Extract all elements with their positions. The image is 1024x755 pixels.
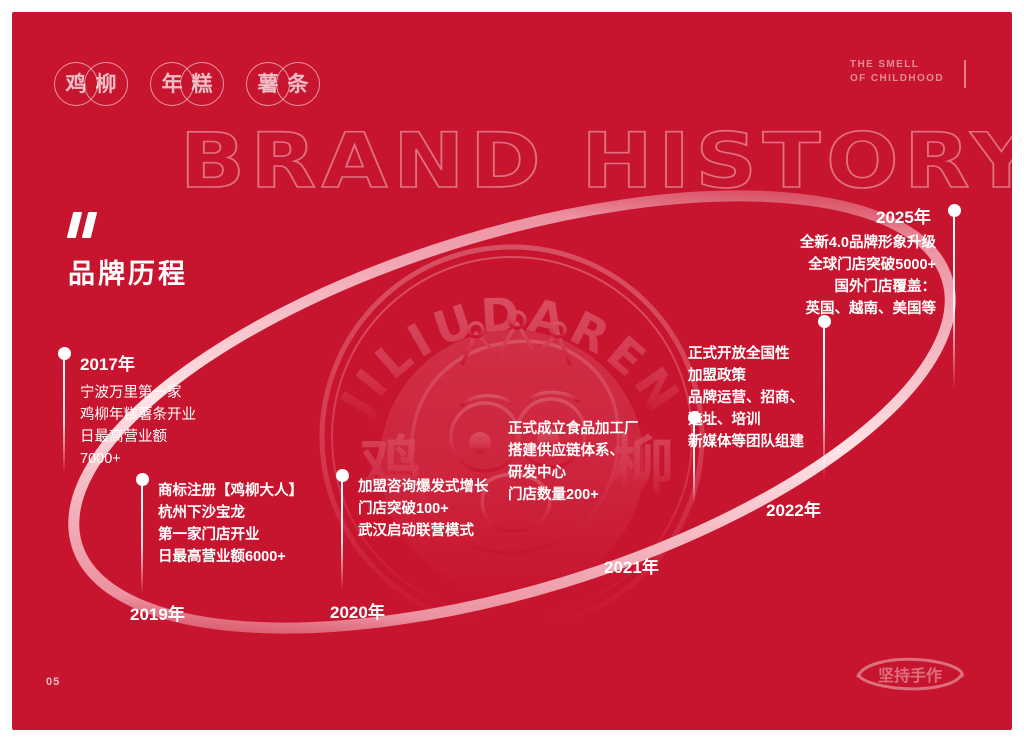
slogan-line-2: OF CHILDHOOD: [850, 72, 944, 86]
milestone-line: 品牌运营、招商、: [688, 387, 804, 409]
milestone-text-2022: 正式开放全国性 加盟政策 品牌运营、招商、 选址、培训 新媒体等团队组建: [688, 343, 804, 453]
milestone-stem-2025: [953, 217, 955, 389]
milestone-yearlabel-2019: 2019年: [130, 600, 185, 625]
milestone-text-2017: 宁波万里第一家 鸡柳年糕薯条开业 日最高营业额 7000+: [80, 382, 196, 470]
milestone-line: 7000+: [80, 448, 196, 470]
milestone-line: 正式成立食品加工厂: [508, 418, 639, 440]
milestone-line: 选址、培训: [688, 409, 804, 431]
logo-char-shutiao-2: 条: [276, 62, 320, 106]
milestone-yearlabel-2020: 2020年: [330, 598, 385, 623]
header-slogan: THE SMELL OF CHILDHOOD: [850, 58, 944, 86]
quote-mark-icon: [70, 212, 110, 238]
milestone-stem-2017: [63, 360, 65, 472]
milestone-line: 国外门店覆盖：: [780, 276, 936, 298]
milestone-text-2025: 全新4.0品牌形象升级 全球门店突破5000+ 国外门店覆盖： 英国、越南、美国…: [780, 232, 936, 320]
milestone-stem-2019: [141, 486, 143, 594]
milestone-stem-2020: [341, 482, 343, 590]
milestone-line: 门店突破100+: [358, 498, 489, 520]
milestone-line: 全新4.0品牌形象升级: [780, 232, 936, 254]
milestone-yearlabel-2021: 2021年: [604, 553, 659, 578]
milestone-line: 武汉启动联营模式: [358, 520, 489, 542]
milestone-line: 加盟咨询爆发式增长: [358, 476, 489, 498]
milestone-line: 加盟政策: [688, 365, 804, 387]
page-title-outline: BRAND HISTORY: [180, 116, 1012, 205]
milestone-year-2017: 2017年: [80, 350, 135, 375]
milestone-line: 新媒体等团队组建: [688, 431, 804, 453]
milestone-line: 日最高营业额: [80, 426, 196, 448]
milestone-line: 鸡柳年糕薯条开业: [80, 404, 196, 426]
milestone-year-2025: 2025年: [876, 203, 931, 228]
milestone-line: 杭州下沙宝龙: [158, 502, 303, 524]
milestone-dot-2020: [336, 469, 349, 482]
milestone-dot-2019: [136, 473, 149, 486]
milestone-line: 商标注册【鸡柳大人】: [158, 480, 303, 502]
slide-canvas: 鸡 柳 年 糕 薯 条 THE SMELL OF CHILDHOOD BRAND…: [12, 12, 1012, 730]
milestone-yearlabel-2022: 2022年: [766, 496, 821, 521]
milestone-line: 日最高营业额6000+: [158, 546, 303, 568]
slogan-line-1: THE SMELL: [850, 58, 944, 72]
milestone-text-2020: 加盟咨询爆发式增长 门店突破100+ 武汉启动联营模式: [358, 476, 489, 542]
milestone-line: 宁波万里第一家: [80, 382, 196, 404]
brand-logo: 鸡 柳 年 糕 薯 条: [54, 62, 284, 110]
milestone-stem-2022: [823, 328, 825, 480]
page-number: 05: [46, 676, 60, 688]
milestone-line: 第一家门店开业: [158, 524, 303, 546]
milestone-line: 英国、越南、美国等: [780, 298, 936, 320]
milestone-text-2019: 商标注册【鸡柳大人】 杭州下沙宝龙 第一家门店开业 日最高营业额6000+: [158, 480, 303, 568]
milestone-line: 正式开放全国性: [688, 343, 804, 365]
milestone-line: 研发中心: [508, 462, 639, 484]
milestone-dot-2025: [948, 204, 961, 217]
milestone-line: 全球门店突破5000+: [780, 254, 936, 276]
handmade-watermark: 坚持手作: [850, 654, 970, 694]
logo-char-niangao-2: 糕: [180, 62, 224, 106]
logo-char-jiliu-2: 柳: [84, 62, 128, 106]
milestone-line: 门店数量200+: [508, 484, 639, 506]
section-title: 品牌历程: [68, 252, 188, 291]
handmade-text: 坚持手作: [878, 666, 942, 685]
milestone-line: 搭建供应链体系、: [508, 440, 639, 462]
milestone-dot-2017: [58, 347, 71, 360]
milestone-text-2021: 正式成立食品加工厂 搭建供应链体系、 研发中心 门店数量200+: [508, 418, 639, 506]
slogan-divider-bar: [964, 60, 966, 88]
